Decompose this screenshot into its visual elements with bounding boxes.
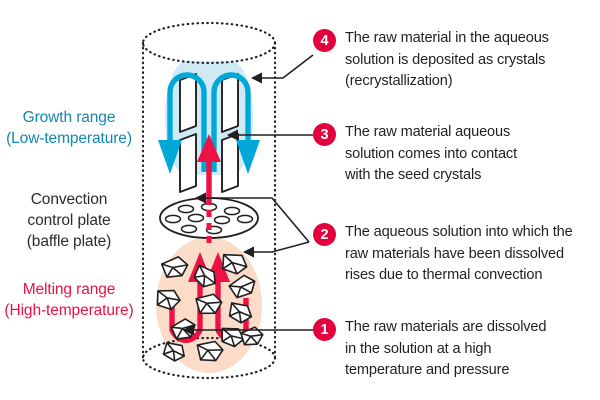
zone-baffle-line3: (baffle plate) bbox=[0, 232, 138, 253]
step-text-1: The raw materials are dissolved in the s… bbox=[345, 317, 546, 382]
zone-baffle-line2: control plate bbox=[0, 211, 138, 232]
zone-melting-line2: (High-temperature) bbox=[0, 301, 138, 322]
step-text-2: The aqueous solution into which the raw … bbox=[345, 222, 573, 287]
step-item-4: 4 The raw material in the aqueous soluti… bbox=[313, 28, 549, 93]
diagram-canvas: Growth range (Low-temperature) Convectio… bbox=[0, 0, 600, 400]
step-item-2: 2 The aqueous solution into which the ra… bbox=[313, 222, 573, 287]
leader-line-step4 bbox=[252, 55, 313, 78]
step-badge-1: 1 bbox=[313, 318, 336, 341]
step-item-3: 3 The raw material aqueous solution come… bbox=[313, 122, 517, 187]
zone-baffle-line1: Convection bbox=[0, 190, 138, 211]
zone-label-melting: Melting range (High-temperature) bbox=[0, 280, 138, 322]
step-badge-3: 3 bbox=[313, 123, 336, 146]
step-item-1: 1 The raw materials are dissolved in the… bbox=[313, 317, 546, 382]
zone-melting-line1: Melting range bbox=[0, 280, 138, 301]
zone-growth-line2: (Low-temperature) bbox=[0, 129, 138, 150]
leader-line-step2-lower bbox=[244, 242, 309, 252]
step-badge-2: 2 bbox=[313, 223, 336, 246]
step-badge-4: 4 bbox=[313, 29, 336, 52]
step-text-3: The raw material aqueous solution comes … bbox=[345, 122, 517, 187]
zone-growth-line1: Growth range bbox=[0, 108, 138, 129]
zone-label-growth: Growth range (Low-temperature) bbox=[0, 108, 138, 150]
zone-label-baffle: Convection control plate (baffle plate) bbox=[0, 190, 138, 253]
step-text-4: The raw material in the aqueous solution… bbox=[345, 28, 549, 93]
step-list: 4 The raw material in the aqueous soluti… bbox=[313, 0, 600, 400]
